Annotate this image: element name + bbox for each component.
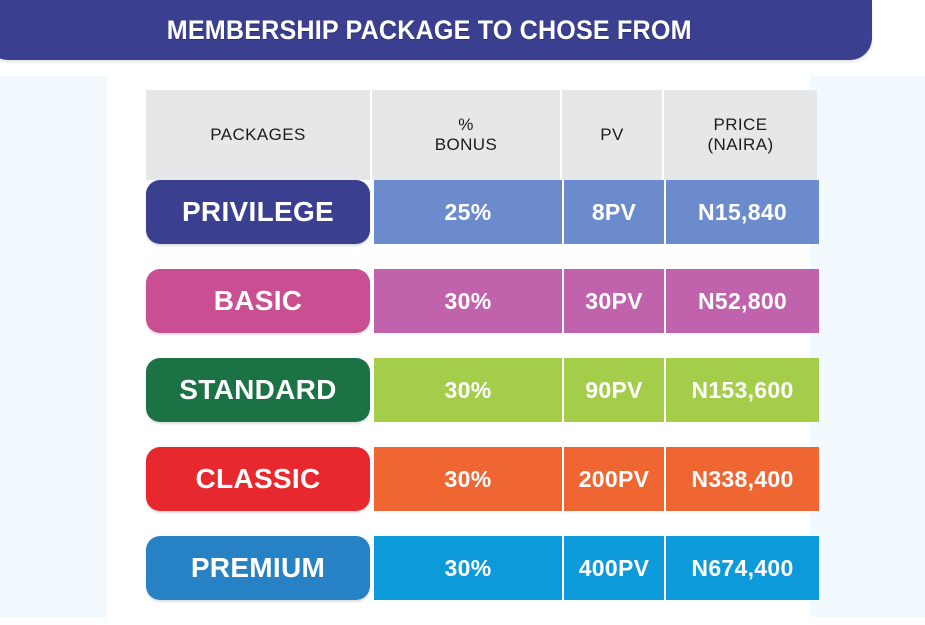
left-background-panel [0, 76, 107, 617]
right-background-panel [810, 76, 925, 617]
table-row[interactable]: CLASSIC 30% 200PV N338,400 [146, 447, 811, 511]
column-header-bonus-symbol: % [435, 115, 497, 135]
table-row[interactable]: STANDARD 30% 90PV N153,600 [146, 358, 811, 422]
pv-value: 200PV [564, 447, 666, 511]
column-header-pv: PV [562, 90, 664, 180]
package-label-standard: STANDARD [146, 358, 370, 422]
table-row[interactable]: BASIC 30% 30PV N52,800 [146, 269, 811, 333]
bonus-value: 30% [374, 447, 564, 511]
column-header-bonus: % BONUS [372, 90, 562, 180]
pv-value: 400PV [564, 536, 666, 600]
column-header-price: PRICE (NAIRA) [664, 90, 817, 180]
page-title: MEMBERSHIP PACKAGE TO CHOSE FROM [167, 15, 692, 46]
pv-value: 30PV [564, 269, 666, 333]
table-row[interactable]: PRIVILEGE 25% 8PV N15,840 [146, 180, 811, 244]
price-value: N338,400 [666, 447, 819, 511]
column-header-packages: PACKAGES [146, 90, 372, 180]
bonus-value: 30% [374, 269, 564, 333]
package-label-basic: BASIC [146, 269, 370, 333]
pv-value: 8PV [564, 180, 666, 244]
column-header-bonus-word: BONUS [435, 135, 497, 155]
bonus-value: 25% [374, 180, 564, 244]
package-label-premium: PREMIUM [146, 536, 370, 600]
table-header-row: PACKAGES % BONUS PV PRICE (NAIRA) [146, 90, 811, 180]
bonus-value: 30% [374, 536, 564, 600]
title-banner: MEMBERSHIP PACKAGE TO CHOSE FROM [0, 0, 872, 60]
package-label-classic: CLASSIC [146, 447, 370, 511]
table-row[interactable]: PREMIUM 30% 400PV N674,400 [146, 536, 811, 600]
column-header-price-word: PRICE [707, 115, 773, 135]
price-value: N52,800 [666, 269, 819, 333]
price-value: N15,840 [666, 180, 819, 244]
pv-value: 90PV [564, 358, 666, 422]
membership-package-table: PACKAGES % BONUS PV PRICE (NAIRA) PRIVIL… [146, 90, 811, 625]
price-value: N153,600 [666, 358, 819, 422]
bonus-value: 30% [374, 358, 564, 422]
package-label-privilege: PRIVILEGE [146, 180, 370, 244]
column-header-price-currency: (NAIRA) [707, 135, 773, 155]
price-value: N674,400 [666, 536, 819, 600]
